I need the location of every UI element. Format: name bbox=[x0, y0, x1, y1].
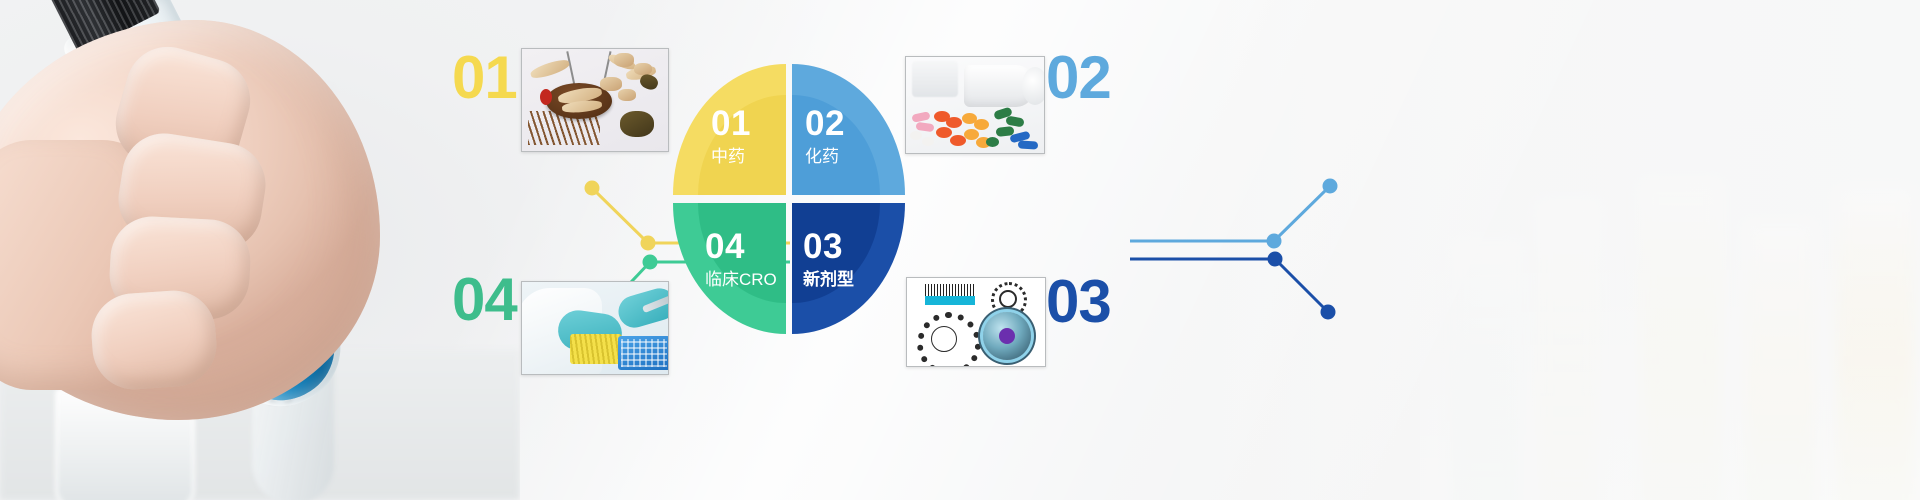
thumbnail-01-herbs[interactable] bbox=[521, 48, 669, 152]
background-left-hand-photo: 50 ml sterile 25 bbox=[0, 0, 520, 500]
callout-number-03: 03 bbox=[1046, 272, 1111, 332]
thumbnail-03-liposome-diagram[interactable] bbox=[906, 277, 1046, 367]
wheel-number-01: 01 bbox=[711, 106, 751, 141]
wheel-label-04: 04 临床CRO bbox=[705, 229, 777, 288]
callout-number-01: 01 bbox=[452, 48, 517, 108]
wheel-label-02: 02 化药 bbox=[805, 106, 845, 165]
callout-number-02: 02 bbox=[1046, 48, 1111, 108]
thumbnail-02-pills[interactable] bbox=[905, 56, 1045, 154]
wheel-label-01: 01 中药 bbox=[711, 106, 751, 165]
callout-number-04: 04 bbox=[452, 270, 517, 330]
wheel-label-03: 03 新剂型 bbox=[803, 229, 854, 288]
quadrant-wheel: 01 中药 02 化药 03 新剂型 04 临床CRO bbox=[673, 64, 911, 334]
wheel-number-04: 04 bbox=[705, 229, 777, 264]
banner-canvas: 50 ml sterile 25 bbox=[0, 0, 1920, 500]
thumbnail-04-lab-technician[interactable] bbox=[521, 281, 669, 375]
wheel-number-02: 02 bbox=[805, 106, 845, 141]
wheel-caption-01: 中药 bbox=[711, 148, 751, 165]
wheel-caption-02: 化药 bbox=[805, 148, 845, 165]
hand bbox=[0, 20, 380, 420]
wheel-caption-04: 临床CRO bbox=[705, 271, 777, 288]
wheel-caption-03: 新剂型 bbox=[803, 271, 854, 288]
wheel-number-03: 03 bbox=[803, 229, 854, 264]
